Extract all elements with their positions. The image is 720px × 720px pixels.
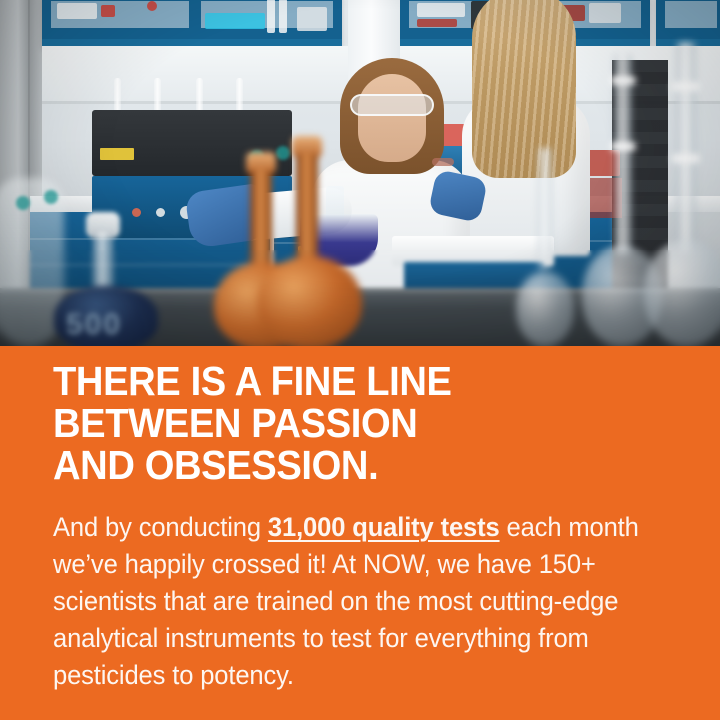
upper-cabinet-far-right xyxy=(656,0,720,46)
lab-photo-scene: 500 xyxy=(0,0,720,346)
safety-glasses-icon xyxy=(350,94,434,116)
clear-flask xyxy=(654,42,720,346)
flask-graduation xyxy=(610,142,636,151)
flask-bulb xyxy=(644,240,720,346)
flask-neck xyxy=(296,154,318,264)
glass-rod xyxy=(236,78,243,114)
flask-neck xyxy=(676,42,696,252)
body-copy: And by conducting 31,000 quality tests e… xyxy=(53,509,646,694)
clear-flask-small xyxy=(520,148,570,346)
highlight-stat: 31,000 quality tests xyxy=(268,512,500,542)
flask-volume-label: 500 xyxy=(66,308,122,342)
shelf-item xyxy=(101,5,115,17)
mouth xyxy=(432,158,454,166)
flask-graduation xyxy=(672,154,700,163)
shelf-item xyxy=(57,3,97,19)
glass-rod xyxy=(114,78,121,114)
cabinet-pane xyxy=(198,0,336,31)
shelf-item xyxy=(147,1,157,11)
body-text-before: And by conducting xyxy=(53,512,268,542)
face xyxy=(358,74,426,162)
advertisement-card: 500 xyxy=(0,0,720,720)
flask-neck xyxy=(538,148,552,268)
flask-neck xyxy=(92,232,114,290)
instrument-rods xyxy=(110,78,270,114)
flask-graduation xyxy=(610,76,636,85)
lab-photo: 500 xyxy=(0,0,720,346)
amber-flask xyxy=(262,136,362,346)
instrument-knob xyxy=(156,208,165,217)
glass-rod xyxy=(154,78,161,114)
shelf-item xyxy=(297,7,327,31)
upper-cabinet-left xyxy=(42,0,342,46)
flask-bulb xyxy=(258,256,362,346)
shelf-item xyxy=(267,0,275,33)
orange-content-panel: THERE IS A FINE LINE BETWEEN PASSION AND… xyxy=(0,346,720,720)
flask-graduation xyxy=(672,82,700,91)
shelf-item xyxy=(205,13,265,29)
instrument-indicator xyxy=(132,208,141,217)
glass-rod xyxy=(196,78,203,114)
teal-cap xyxy=(16,196,30,210)
cabinet-pane xyxy=(662,0,720,31)
flask-bulb xyxy=(516,272,574,346)
shelf-item xyxy=(279,0,287,33)
teal-cap xyxy=(44,190,58,204)
headline: THERE IS A FINE LINE BETWEEN PASSION AND… xyxy=(53,360,648,486)
instrument-label xyxy=(100,148,134,160)
cabinet-pane xyxy=(48,0,192,31)
